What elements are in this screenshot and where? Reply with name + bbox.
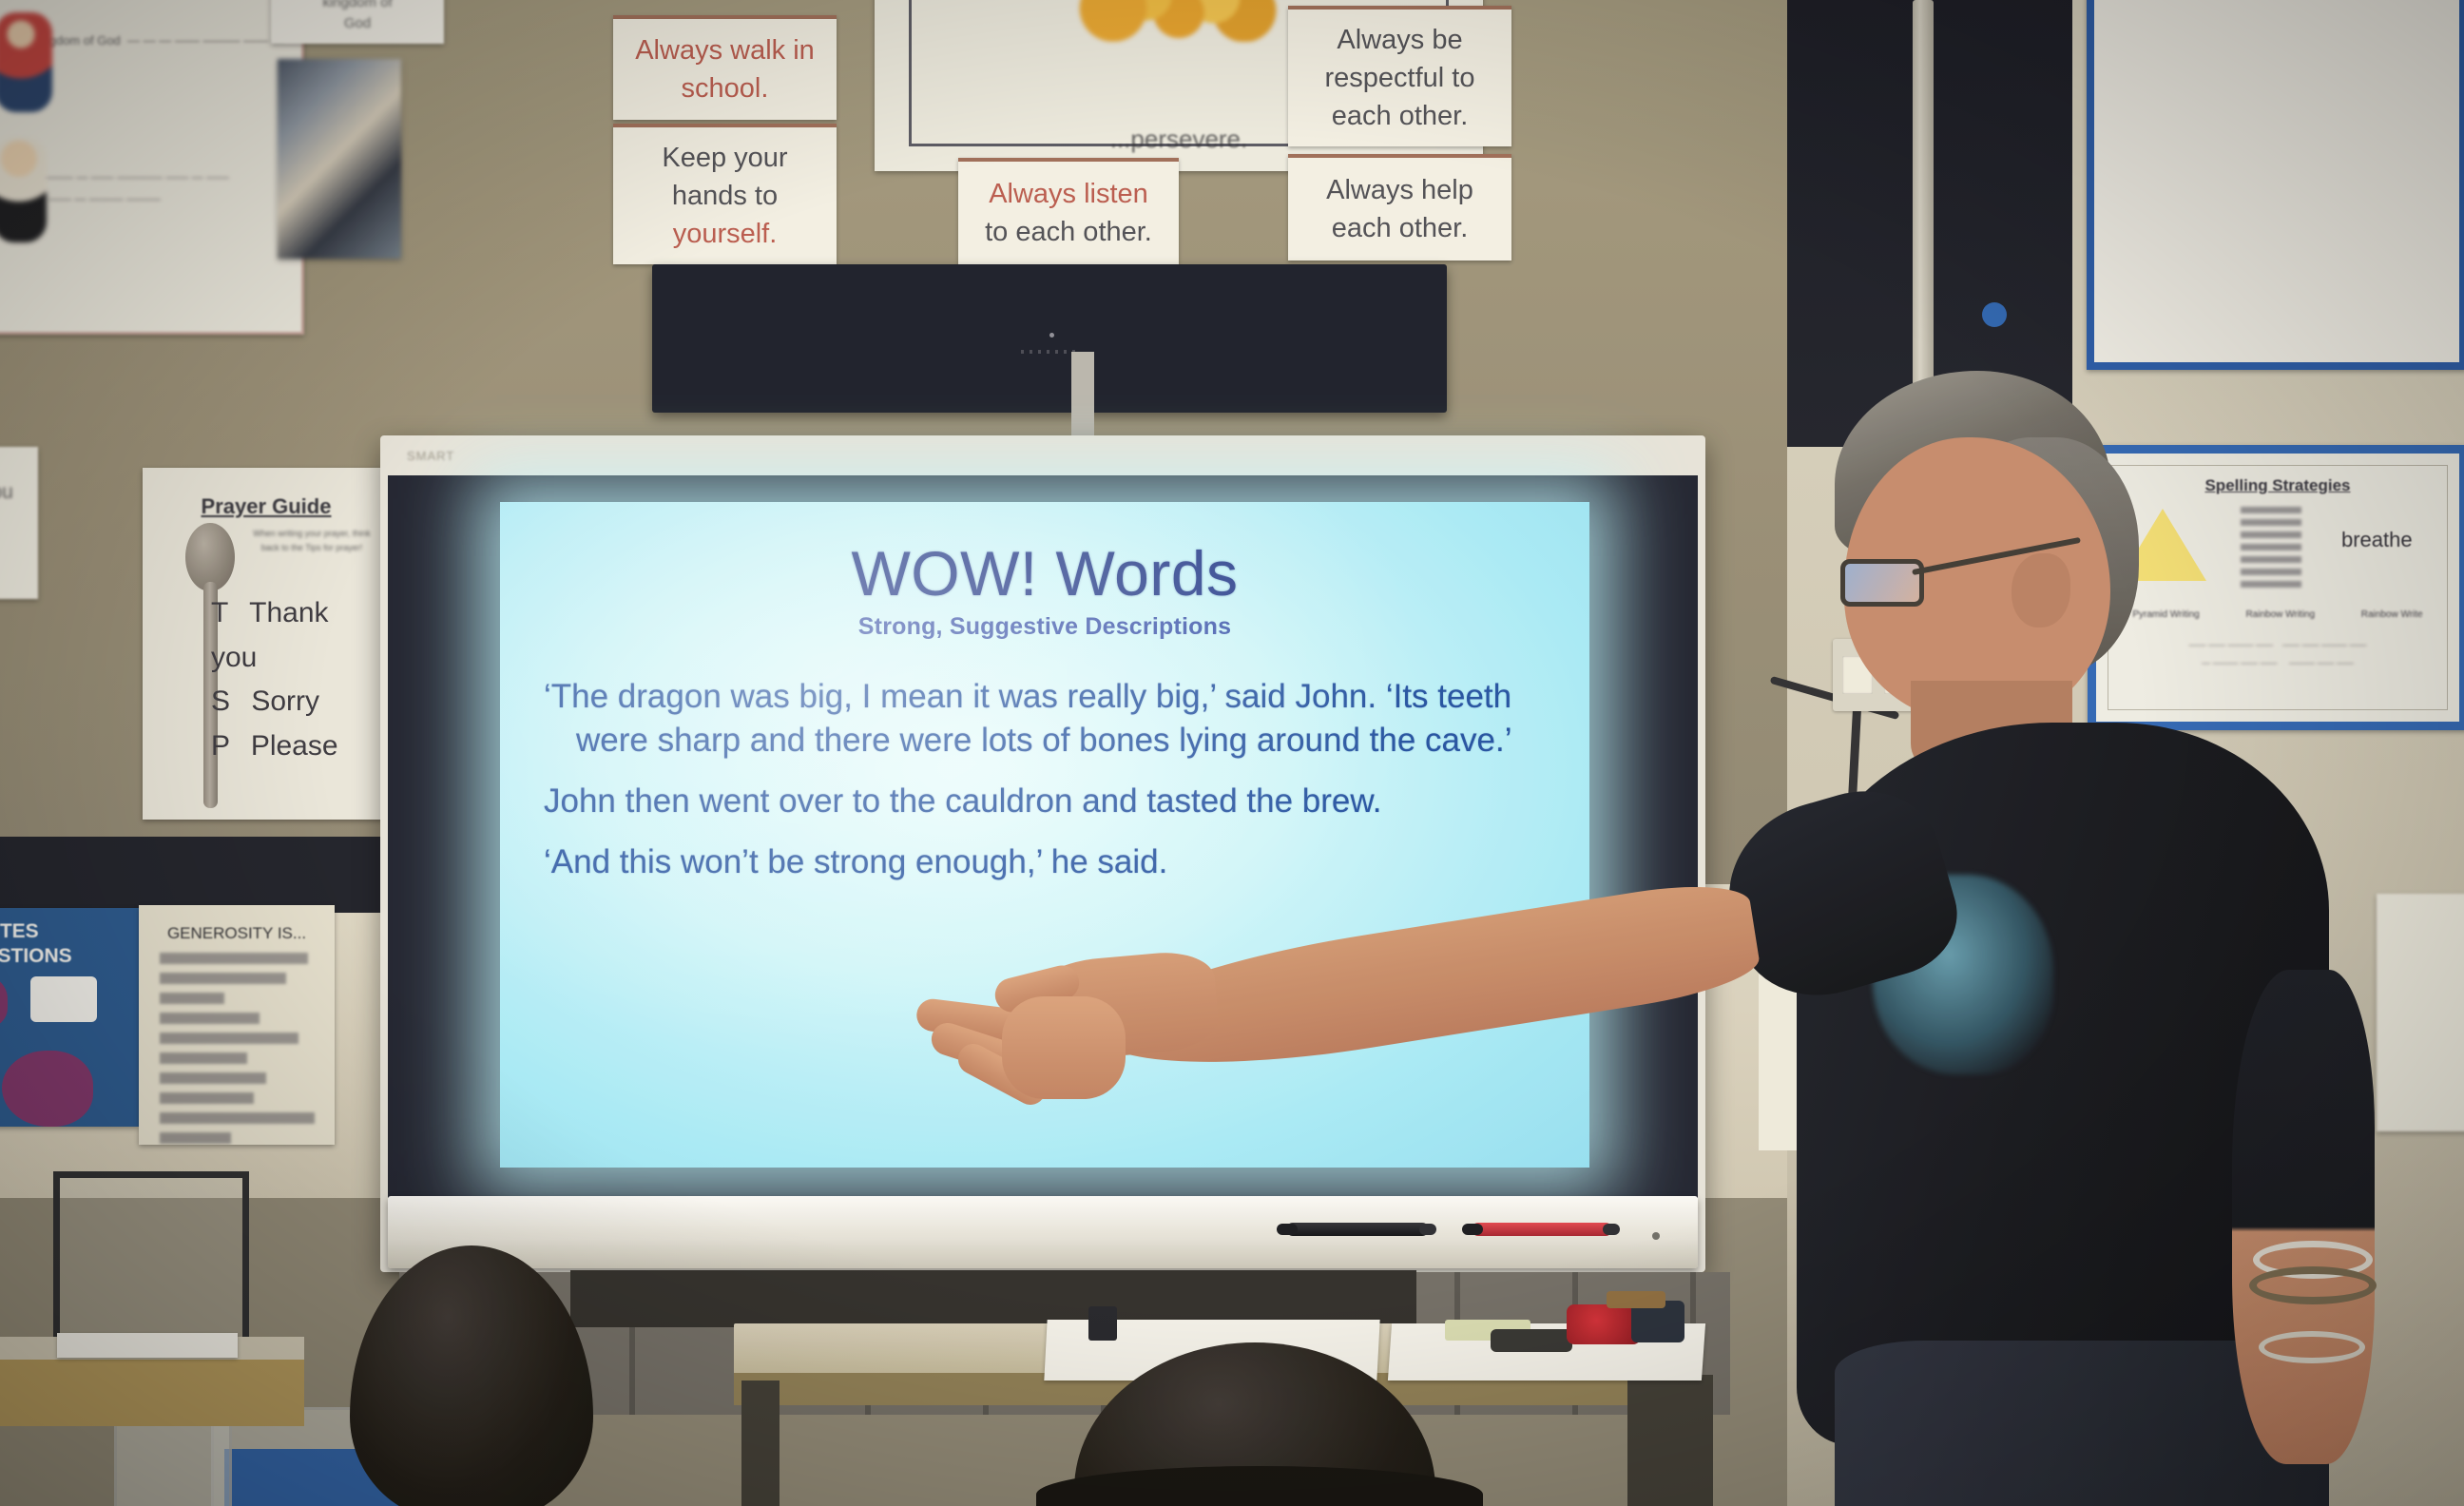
teacher bbox=[1673, 380, 2464, 1506]
kingdom-caption-text: kingdom ofGod bbox=[271, 0, 444, 34]
prayer-item-please: P Please bbox=[211, 724, 382, 769]
glasses-lens-left bbox=[1840, 559, 1924, 607]
desk-red-tape-roll[interactable] bbox=[1567, 1304, 1641, 1344]
left-sliver-text: you bbox=[0, 481, 13, 504]
whiteboard-brand-mark: SMART bbox=[407, 449, 454, 463]
board-cabinet-base bbox=[570, 1270, 1416, 1327]
poster-line-b: ——— — —— ———— —— — —— —— — ——— ——— bbox=[39, 166, 286, 210]
rule-walk-line1: Always walk in bbox=[635, 31, 815, 69]
rule-help-line2: each other. bbox=[1332, 209, 1469, 247]
poster-line-a: kingdom of God — — — —— ——— —— — bbox=[33, 29, 284, 51]
classroom-photo: kingdom of God — — — —— ——— —— — ——— — —… bbox=[0, 0, 2464, 1506]
prayer-letter-t: T bbox=[211, 597, 228, 628]
poster-photo-collage bbox=[278, 59, 401, 259]
rule-card-help: Always help each other. bbox=[1288, 154, 1511, 261]
soundbar-led bbox=[1049, 333, 1054, 338]
desk-stapler[interactable] bbox=[1491, 1329, 1572, 1352]
slide-subtitle: Strong, Suggestive Descriptions bbox=[544, 613, 1546, 641]
quotes-title: QUOTES QUESTIONS bbox=[0, 919, 72, 968]
dark-board-band-left bbox=[0, 837, 399, 913]
poster-left-sliver: you bbox=[0, 447, 38, 599]
palm bbox=[1002, 996, 1126, 1099]
rule-walk-line2: school. bbox=[682, 69, 769, 107]
slide-paragraph-1: ‘The dragon was big, I mean it was reall… bbox=[544, 675, 1546, 763]
prayer-item-sorry: S Sorry bbox=[211, 680, 382, 724]
generosity-title: GENEROSITY IS... bbox=[139, 924, 335, 943]
prayer-word-thank: Thank you bbox=[211, 597, 329, 673]
slide-title: WOW! Words bbox=[544, 542, 1546, 606]
poster-kingdom-left: kingdom of God — — — —— ——— —— — ——— — —… bbox=[0, 0, 304, 335]
desk-black-pot[interactable] bbox=[1088, 1306, 1117, 1341]
poster-child-figure-2 bbox=[0, 138, 47, 242]
black-pen-cap bbox=[1419, 1224, 1436, 1235]
interactive-whiteboard[interactable]: SMART WOW! Words Strong, Suggestive Desc… bbox=[380, 435, 1705, 1272]
slide-body: ‘The dragon was big, I mean it was reall… bbox=[544, 675, 1546, 893]
tray-dot-right bbox=[1652, 1232, 1660, 1240]
pipe-bracket bbox=[1982, 302, 2007, 327]
storage-tray-2[interactable] bbox=[114, 1419, 232, 1506]
rule-hands-line3: yourself. bbox=[673, 215, 778, 253]
poster-quotes-questions: QUOTES QUESTIONS bbox=[0, 908, 139, 1127]
rule-hands-line1: Keep your bbox=[662, 139, 787, 177]
speech-bubble-white-1 bbox=[30, 976, 97, 1022]
rule-respect-line2: respectful to bbox=[1325, 59, 1475, 97]
prayer-word-sorry: Sorry bbox=[251, 685, 319, 717]
rule-respect-line3: each other. bbox=[1332, 97, 1469, 135]
poster-blank-topright bbox=[2087, 0, 2464, 370]
shelf-body bbox=[0, 1360, 304, 1426]
red-pen[interactable] bbox=[1472, 1223, 1612, 1236]
poster-generosity: GENEROSITY IS... bbox=[139, 905, 335, 1145]
prayer-letter-p: P bbox=[211, 730, 229, 762]
black-pen[interactable] bbox=[1286, 1223, 1429, 1236]
prayer-guide-items: T Thank you S Sorry P Please bbox=[211, 591, 382, 768]
poster-kingdom-caption: kingdom ofGod bbox=[271, 0, 444, 44]
speech-bubble-purple-2 bbox=[2, 1051, 93, 1127]
slide-paragraph-2: John then went over to the cauldron and … bbox=[544, 780, 1546, 823]
prayer-letter-s: S bbox=[211, 685, 230, 717]
prayer-guide-title: Prayer Guide bbox=[143, 494, 390, 519]
rule-help-line1: Always help bbox=[1326, 171, 1473, 209]
red-pen-tip bbox=[1462, 1224, 1483, 1235]
sweets-pile-image bbox=[1069, 0, 1288, 42]
rule-listen-line1: Always listen bbox=[989, 175, 1148, 213]
rule-card-hands: Keep your hands to yourself. bbox=[613, 124, 837, 264]
prayer-item-thank: T Thank you bbox=[211, 591, 382, 680]
teacher-right-arm bbox=[2232, 970, 2375, 1464]
soundbar bbox=[652, 264, 1447, 413]
prayer-word-please: Please bbox=[251, 730, 338, 762]
prayer-guide-note: When writing your prayer, think back to … bbox=[245, 527, 378, 556]
poster-prayer-guide: Prayer Guide When writing your prayer, t… bbox=[143, 468, 390, 820]
quotes-line2: QUESTIONS bbox=[0, 944, 72, 969]
speech-bubble-purple-1 bbox=[0, 975, 8, 1028]
rule-card-walk: Always walk in school. bbox=[613, 15, 837, 120]
whiteboard-pen-tray[interactable] bbox=[388, 1196, 1698, 1268]
poster-child-figure-1 bbox=[0, 12, 52, 112]
rule-respect-line1: Always be bbox=[1337, 21, 1462, 59]
rule-listen-line2: to each other. bbox=[985, 213, 1152, 251]
desk-leg-left bbox=[741, 1380, 780, 1506]
red-pen-cap bbox=[1603, 1224, 1620, 1235]
rule-card-listen: Always listen to each other. bbox=[958, 158, 1179, 264]
desk-wood-block[interactable] bbox=[1607, 1291, 1665, 1308]
rule-hands-line2: hands to bbox=[672, 177, 778, 215]
rule-card-respectful: Always be respectful to each other. bbox=[1288, 6, 1511, 146]
teacher-hand bbox=[951, 964, 1169, 1116]
generosity-lines bbox=[160, 953, 321, 1144]
bracelet-braided bbox=[2249, 1266, 2377, 1304]
bracelet-thin bbox=[2259, 1331, 2365, 1363]
slide-paragraph-3: ‘And this won’t be strong enough,’ he sa… bbox=[544, 840, 1546, 884]
black-pen-tip bbox=[1277, 1224, 1298, 1235]
teacher-glasses bbox=[1840, 550, 2078, 608]
quotes-line1: QUOTES bbox=[0, 919, 72, 944]
shelf-paper[interactable] bbox=[57, 1333, 238, 1358]
soundbar-vent bbox=[1021, 350, 1078, 354]
